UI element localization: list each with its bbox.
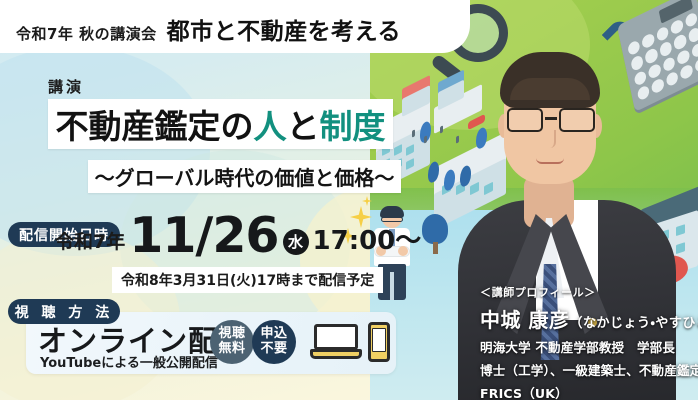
speaker-name-row: 中城 康彦（なかじょう・やすひこ）	[480, 304, 698, 333]
device-icons	[310, 322, 390, 364]
speaker-profile: ＜講師プロフィール＞ 中城 康彦（なかじょう・やすひこ） 明海大学 不動産学部教…	[480, 284, 698, 400]
viewing-method-sub: YouTubeによる一般公開配信	[40, 352, 218, 371]
lecture-label: 講演	[48, 76, 84, 97]
broadcast-day-of-week: 水	[283, 229, 309, 255]
broadcast-time: 17:00～	[313, 220, 422, 260]
lecture-subtitle-box: ～グローバル時代の価値と価格～	[88, 160, 401, 193]
page-title: 都市と不動産を考える	[167, 12, 401, 46]
title-highlight-1: 人	[254, 107, 287, 146]
badge-free-line2: 無料	[218, 342, 245, 357]
badge-noapp-line1: 申込	[260, 327, 287, 342]
badge-noapp-line2: 不要	[260, 342, 287, 357]
eyeglasses	[506, 108, 596, 132]
smartphone-icon	[368, 322, 390, 362]
broadcast-date-row: 令和7年 11/26 水 17:00～	[55, 213, 421, 260]
seminar-poster: ¥	[0, 0, 698, 400]
title-highlight-2: 制度	[320, 107, 386, 146]
broadcast-date: 11/26	[129, 213, 278, 260]
speaker-credentials-1: 博士（工学）、一級建築士、不動産鑑定士、	[480, 360, 698, 379]
lecture-title-box: 不動産鑑定の人と制度	[48, 99, 393, 149]
laptop-icon	[310, 324, 362, 360]
speaker-affiliation: 明海大学 不動産学部教授 学部長	[480, 337, 698, 356]
title-part-1: 不動産鑑定の	[56, 107, 254, 146]
header-band: 令和7年 秋の講演会 都市と不動産を考える	[0, 0, 470, 53]
badge-free-line1: 視聴	[218, 327, 245, 342]
speaker-credentials-2: FRICS（UK）	[480, 383, 698, 400]
header-kicker: 令和7年 秋の講演会	[16, 23, 157, 44]
badge-free-viewing: 視聴 無料	[210, 320, 254, 364]
badge-no-application: 申込 不要	[252, 320, 296, 364]
speaker-name-kana: （なかじょう・やすひこ）	[569, 316, 698, 331]
title-part-2: と	[287, 107, 320, 146]
speaker-profile-heading: ＜講師プロフィール＞	[480, 284, 698, 300]
lecture-title: 不動産鑑定の人と制度	[56, 100, 386, 148]
speaker-name: 中城 康彦	[480, 308, 569, 332]
archive-note: 令和8年3月31日(火)17時まで配信予定	[112, 267, 383, 293]
broadcast-era-year: 令和7年	[55, 227, 125, 260]
lecture-subtitle: ～グローバル時代の価値と価格～	[95, 162, 395, 191]
